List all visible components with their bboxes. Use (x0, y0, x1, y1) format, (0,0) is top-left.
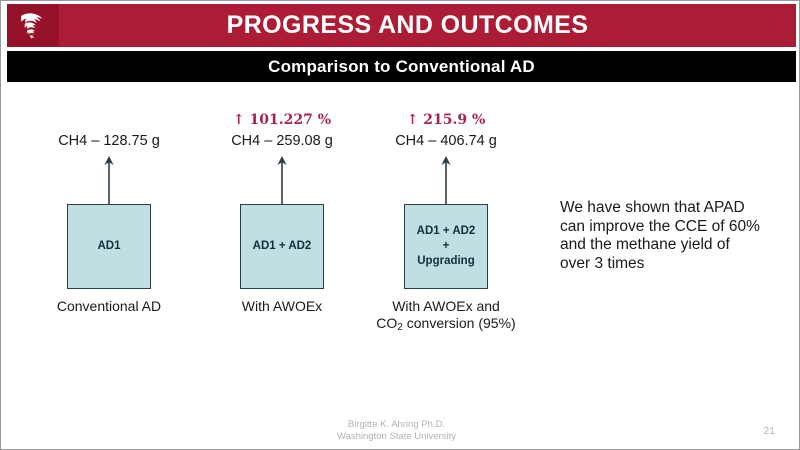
summary-note: We have shown that APAD can improve the … (560, 199, 788, 273)
scenario-caption-2: With AWOEx (192, 298, 372, 315)
arrow-container-3 (356, 152, 536, 204)
arrow-container-2 (192, 152, 372, 204)
increase-percent-2: ↑ 101.227 % (192, 110, 372, 130)
process-box-3: AD1 + AD2 + Upgrading (404, 204, 488, 289)
process-box-2: AD1 + AD2 (240, 204, 324, 289)
footer-credit: Birgitte K. Ahring Ph.D. Washington Stat… (337, 419, 456, 442)
process-box-label-1: AD1 (97, 239, 120, 254)
up-arrow-icon (101, 154, 117, 204)
scenario-caption-3-line2-pre: CO (376, 315, 397, 331)
slide-header-bar: PROGRESS AND OUTCOMES (7, 4, 796, 47)
slide-body: CH4 – 128.75 g AD1 Conventional AD ↑ 101… (1, 82, 799, 449)
slide-subtitle-bar: Comparison to Conventional AD (7, 51, 796, 82)
process-box-label-3: AD1 + AD2 + Upgrading (417, 224, 476, 269)
process-box-label-2: AD1 + AD2 (253, 239, 312, 254)
up-arrow-icon (274, 154, 290, 204)
process-box-1: AD1 (67, 204, 151, 289)
wsu-cougar-logo-icon (16, 11, 50, 41)
scenario-caption-3-line2-post: conversion (95%) (403, 315, 516, 331)
wsu-logo-block (7, 4, 59, 47)
scenario-column-1: CH4 – 128.75 g AD1 Conventional AD (19, 110, 199, 315)
ch4-yield-1: CH4 – 128.75 g (19, 130, 199, 152)
slide-title: PROGRESS AND OUTCOMES (59, 11, 796, 40)
scenario-column-2: ↑ 101.227 % CH4 – 259.08 g AD1 + AD2 Wit… (192, 110, 372, 315)
slide-page-number: 21 (763, 425, 775, 437)
scenario-caption-3-line1: With AWOEx and (392, 298, 500, 314)
scenario-caption-3: With AWOEx andCO2 conversion (95%) (356, 298, 536, 336)
ch4-yield-2: CH4 – 259.08 g (192, 130, 372, 152)
ch4-yield-3: CH4 – 406.74 g (356, 130, 536, 152)
scenario-caption-1: Conventional AD (19, 298, 199, 315)
slide-subtitle: Comparison to Conventional AD (268, 57, 535, 77)
scenario-column-3: ↑ 215.9 % CH4 – 406.74 g AD1 + AD2 + Upg… (356, 110, 536, 336)
increase-percent-3: ↑ 215.9 % (356, 110, 536, 130)
slide: PROGRESS AND OUTCOMES Comparison to Conv… (0, 0, 800, 450)
up-arrow-icon (438, 154, 454, 204)
slide-footer: Birgitte K. Ahring Ph.D. Washington Stat… (1, 411, 799, 449)
arrow-container-1 (19, 152, 199, 204)
